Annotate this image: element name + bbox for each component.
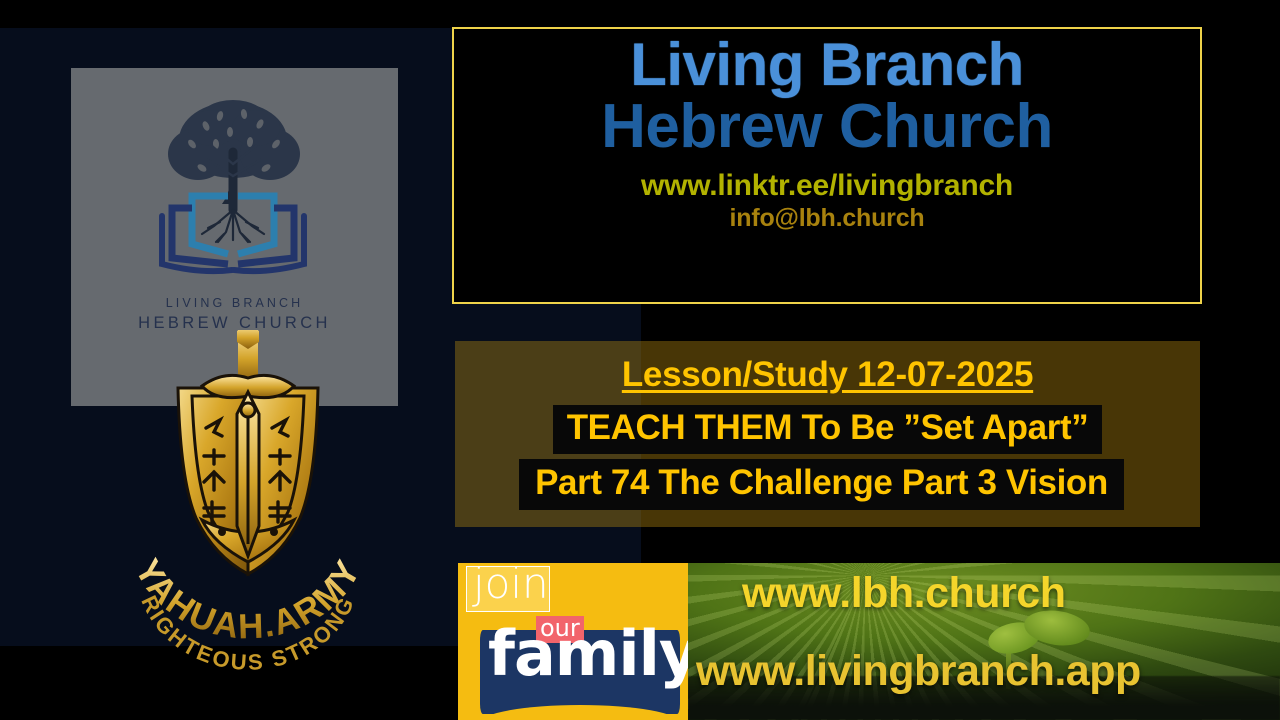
lesson-info-box: Lesson/Study 12-07-2025 TEACH THEM To Be… <box>455 341 1200 527</box>
logo-line-1: LIVING BRANCH <box>71 296 398 310</box>
join-label: join <box>473 563 549 607</box>
lesson-date-line: Lesson/Study 12-07-2025 <box>622 355 1033 395</box>
lesson-part-line: Part 74 The Challenge Part 3 Vision <box>519 459 1124 510</box>
yahuah-army-emblem: YAHUAH.ARMY RIGHTEOUS STRONG <box>118 330 378 680</box>
join-our-family-card[interactable]: join our family <box>458 563 688 720</box>
church-header-box: Living Branch Hebrew Church www.linktr.e… <box>452 27 1202 304</box>
family-label: family <box>488 623 688 685</box>
tree-open-book-icon <box>120 92 350 282</box>
header-email-link[interactable]: info@lbh.church <box>730 204 925 233</box>
lesson-title-line: TEACH THEM To Be ”Set Apart” <box>553 405 1103 454</box>
banner-url-primary[interactable]: www.lbh.church <box>742 569 1065 618</box>
header-title-line-2: Hebrew Church <box>601 94 1053 161</box>
sprout-url-banner: www.lbh.church www.livingbranch.app <box>688 563 1280 720</box>
slide-canvas: LIVING BRANCH HEBREW CHURCH <box>0 0 1280 720</box>
join-word-box: join <box>466 566 550 612</box>
sword-hilt-icon <box>237 330 259 382</box>
header-title-line-1: Living Branch <box>630 33 1024 98</box>
sword-blade-icon <box>237 392 259 556</box>
header-website-link[interactable]: www.linktr.ee/livingbranch <box>641 169 1013 203</box>
banner-url-secondary[interactable]: www.livingbranch.app <box>696 647 1141 696</box>
